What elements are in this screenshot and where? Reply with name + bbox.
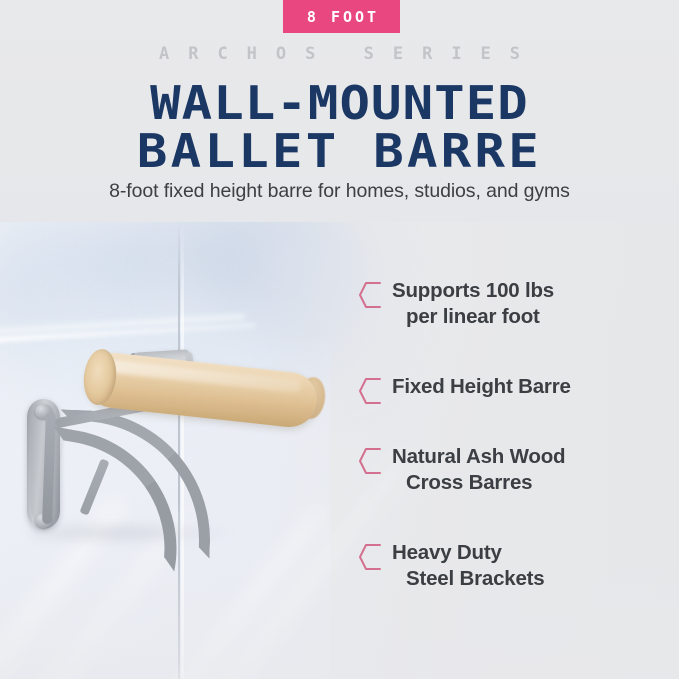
feature-item: Supports 100 lbs per linear foot bbox=[358, 278, 658, 330]
feature-list: Supports 100 lbs per linear foot Fixed H… bbox=[358, 278, 658, 636]
page-subtitle: 8-foot fixed height barre for homes, stu… bbox=[0, 180, 679, 203]
feature-line2: Cross Barres bbox=[392, 470, 658, 496]
hexagon-bracket-icon bbox=[358, 543, 384, 571]
feature-line2: Steel Brackets bbox=[392, 566, 658, 592]
hexagon-bracket-icon bbox=[358, 447, 384, 475]
series-label: ARCHOS SERIES bbox=[0, 44, 679, 64]
product-infographic: 8 FOOT ARCHOS SERIES WALL-MOUNTED BALLET… bbox=[0, 0, 679, 679]
feature-line1: Fixed Height Barre bbox=[392, 375, 571, 398]
header-banner: 8 FOOT ARCHOS SERIES WALL-MOUNTED BALLET… bbox=[0, 0, 679, 222]
feature-text: Supports 100 lbs per linear foot bbox=[392, 278, 658, 330]
feature-text: Heavy Duty Steel Brackets bbox=[392, 540, 658, 592]
feature-line1: Supports 100 lbs bbox=[392, 279, 554, 302]
barre-assembly bbox=[0, 222, 360, 622]
feature-line2: per linear foot bbox=[392, 304, 658, 330]
feature-item: Fixed Height Barre bbox=[358, 374, 658, 400]
page-title-line1: WALL-MOUNTED bbox=[0, 76, 679, 130]
feature-text: Fixed Height Barre bbox=[392, 374, 658, 400]
hexagon-bracket-icon bbox=[358, 377, 384, 405]
feature-item: Natural Ash Wood Cross Barres bbox=[358, 444, 658, 496]
feature-line1: Natural Ash Wood bbox=[392, 445, 565, 468]
feature-text: Natural Ash Wood Cross Barres bbox=[392, 444, 658, 496]
size-badge: 8 FOOT bbox=[283, 0, 400, 33]
feature-line1: Heavy Duty bbox=[392, 541, 502, 564]
page-title-line2: BALLET BARRE bbox=[0, 124, 679, 178]
hexagon-bracket-icon bbox=[358, 281, 384, 309]
feature-item: Heavy Duty Steel Brackets bbox=[358, 540, 658, 592]
